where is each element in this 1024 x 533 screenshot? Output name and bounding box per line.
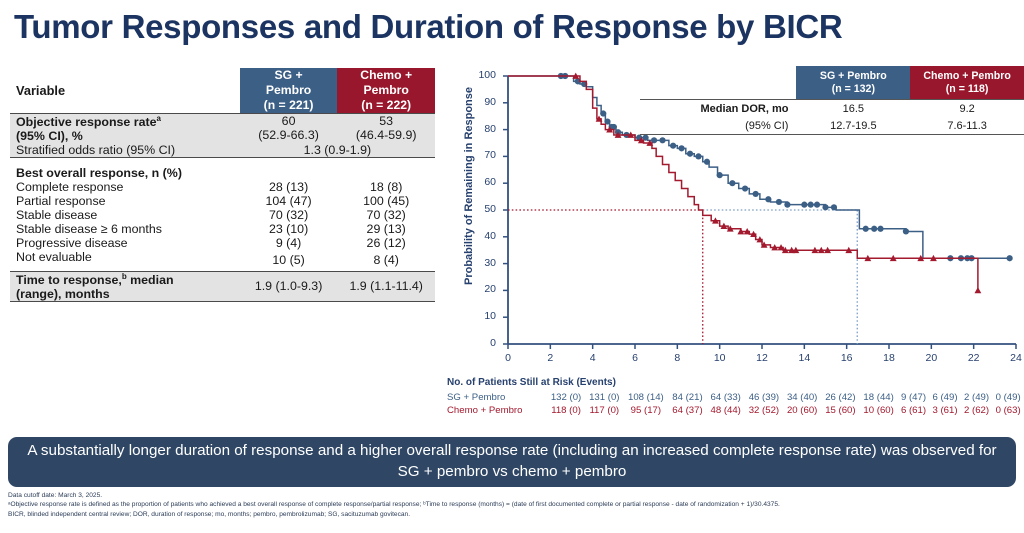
dor-ci-label: (95% CI)	[640, 117, 796, 135]
dor-header-row: SG + Pembro (n = 132) Chemo + Pembro (n …	[640, 66, 1024, 100]
row-progressive-disease-label: Progressive disease	[10, 236, 240, 250]
y-tick-label: 10	[470, 310, 496, 322]
row-orr-value-sg-pct: 60	[282, 114, 296, 128]
censor-mark-circle	[742, 185, 748, 191]
at-risk-cell: 18 (44)	[860, 391, 898, 404]
header-variable: Variable	[10, 68, 240, 113]
at-risk-grid: SG + Pembro132 (0)131 (0)108 (14)84 (21)…	[447, 391, 1024, 417]
y-tick-label: 40	[470, 230, 496, 242]
dor-header-chemo-l1: Chemo + Pembro	[912, 70, 1022, 83]
censor-mark-circle	[704, 159, 710, 165]
at-risk-cell: 0 (63)	[992, 404, 1024, 417]
y-tick-label: 100	[470, 69, 496, 81]
row-time-to-response-sg: 1.9 (1.0-9.3)	[240, 271, 338, 301]
censor-mark-circle	[659, 137, 665, 143]
at-risk-cell: 95 (17)	[623, 404, 668, 417]
at-risk-cell: 34 (40)	[783, 391, 821, 404]
footnote-line-2: ᵃObjective response rate is defined as t…	[8, 500, 1022, 509]
row-stable-disease-label: Stable disease	[10, 208, 240, 222]
row-stable-disease-6mo-sg: 23 (10)	[240, 222, 338, 236]
header-chemo-pembro: Chemo + Pembro (n = 222)	[337, 68, 435, 113]
at-risk-cell: 20 (60)	[783, 404, 821, 417]
y-tick-label: 30	[470, 257, 496, 269]
censor-mark-circle	[822, 204, 828, 210]
x-tick-label: 16	[835, 352, 859, 364]
slide-root: Tumor Responses and Duration of Response…	[0, 0, 1024, 533]
x-tick-label: 12	[750, 352, 774, 364]
dor-header-spacer	[640, 66, 796, 100]
x-tick-label: 6	[623, 352, 647, 364]
row-bor-header-a	[240, 157, 338, 180]
censor-mark-circle	[687, 151, 693, 157]
y-tick-label: 90	[470, 96, 496, 108]
dor-ci-row: (95% CI) 12.7-19.5 7.6-11.3	[640, 117, 1024, 135]
at-risk-cell: 2 (49)	[961, 391, 993, 404]
footnotes: Data cutoff date: March 3, 2025. ᵃObject…	[8, 491, 1022, 519]
at-risk-cell: 32 (52)	[745, 404, 783, 417]
at-risk-row-label: Chemo + Pembro	[447, 404, 547, 417]
censor-mark-circle	[1007, 255, 1013, 261]
censor-mark-circle	[831, 204, 837, 210]
at-risk-cell: 10 (60)	[860, 404, 898, 417]
header-chemo-line2: Pembro	[337, 83, 435, 98]
table-header-row: Variable SG + Pembro (n = 221) Chemo + P…	[10, 68, 435, 113]
y-tick-label: 60	[470, 176, 496, 188]
at-risk-cell: 132 (0)	[547, 391, 585, 404]
row-odds-ratio-value: 1.3 (0.9-1.9)	[240, 143, 435, 158]
page-title: Tumor Responses and Duration of Response…	[14, 10, 1014, 45]
table-row: Objective response ratea (95% CI), % 60 …	[10, 113, 435, 143]
table-row: Stable disease 70 (32) 70 (32)	[10, 208, 435, 222]
dor-header-sg-l2: (n = 132)	[798, 83, 908, 96]
row-stable-disease-sg: 70 (32)	[240, 208, 338, 222]
x-tick-label: 22	[962, 352, 986, 364]
header-sg-pembro: SG + Pembro (n = 221)	[240, 68, 338, 113]
dor-header-chemo: Chemo + Pembro (n = 118)	[910, 66, 1024, 100]
row-partial-response-label: Partial response	[10, 194, 240, 208]
row-ttr-label-tail: median	[127, 273, 174, 287]
dor-header-sg-l1: SG + Pembro	[798, 70, 908, 83]
at-risk-row: SG + Pembro132 (0)131 (0)108 (14)84 (21)…	[447, 391, 1024, 404]
row-time-to-response-chemo: 1.9 (1.1-11.4)	[337, 271, 435, 301]
y-tick-label: 0	[470, 337, 496, 349]
tumor-response-table: Variable SG + Pembro (n = 221) Chemo + P…	[10, 68, 435, 302]
table-row: Stable disease ≥ 6 months 23 (10) 29 (13…	[10, 222, 435, 236]
row-orr-label-text2: (95% CI), %	[16, 129, 83, 143]
footnote-marker-a: a	[157, 114, 161, 123]
censor-mark-circle	[717, 172, 723, 178]
table-row: Time to response,b median (range), month…	[10, 271, 435, 301]
table-row: Partial response 104 (47) 100 (45)	[10, 194, 435, 208]
x-tick-label: 10	[708, 352, 732, 364]
censor-mark-circle	[871, 226, 877, 232]
x-tick-label: 8	[665, 352, 689, 364]
at-risk-table: No. of Patients Still at Risk (Events) S…	[447, 377, 1024, 417]
dor-ci-sg: 12.7-19.5	[796, 117, 910, 135]
row-orr-label-text: Objective response rate	[16, 115, 157, 129]
at-risk-cell: 6 (61)	[898, 404, 930, 417]
dor-header-chemo-l2: (n = 118)	[912, 83, 1022, 96]
y-tick-label: 70	[470, 149, 496, 161]
table-row: Not evaluable 10 (5) 8 (4)	[10, 250, 435, 272]
header-sg-line3: (n = 221)	[240, 98, 338, 113]
row-not-evaluable-chemo: 8 (4)	[337, 250, 435, 272]
row-partial-response-chemo: 100 (45)	[337, 194, 435, 208]
censor-mark-circle	[729, 180, 735, 186]
row-orr-value-sg-ci: (52.9-66.3)	[258, 128, 319, 142]
censor-mark-circle	[863, 226, 869, 232]
row-complete-response-chemo: 18 (8)	[337, 180, 435, 194]
row-not-evaluable-sg: 10 (5)	[240, 250, 338, 272]
at-risk-cell: 15 (60)	[821, 404, 859, 417]
at-risk-cell: 3 (61)	[929, 404, 961, 417]
dor-median-chemo: 9.2	[910, 100, 1024, 118]
table-row: Stratified odds ratio (95% CI) 1.3 (0.9-…	[10, 143, 435, 158]
row-orr-value-sg: 60 (52.9-66.3)	[240, 113, 338, 143]
x-tick-label: 24	[1004, 352, 1024, 364]
x-tick-label: 0	[496, 352, 520, 364]
row-orr-value-chemo: 53 (46.4-59.9)	[337, 113, 435, 143]
x-tick-label: 14	[792, 352, 816, 364]
dor-median-sg: 16.5	[796, 100, 910, 118]
at-risk-cell: 108 (14)	[623, 391, 668, 404]
row-not-evaluable-label: Not evaluable	[10, 250, 240, 272]
header-sg-line1: SG +	[240, 68, 338, 83]
at-risk-cell: 64 (37)	[668, 404, 706, 417]
at-risk-row-label: SG + Pembro	[447, 391, 547, 404]
row-bor-header: Best overall response, n (%)	[10, 157, 240, 180]
row-orr-value-chemo-ci: (46.4-59.9)	[356, 128, 417, 142]
at-risk-cell: 2 (62)	[961, 404, 993, 417]
row-stable-disease-chemo: 70 (32)	[337, 208, 435, 222]
row-stable-disease-6mo-label: Stable disease ≥ 6 months	[10, 222, 240, 236]
at-risk-cell: 0 (49)	[992, 391, 1024, 404]
censor-mark-circle	[814, 202, 820, 208]
at-risk-title: No. of Patients Still at Risk (Events)	[447, 377, 1024, 388]
header-sg-line2: Pembro	[240, 83, 338, 98]
x-tick-label: 18	[877, 352, 901, 364]
at-risk-cell: 48 (44)	[707, 404, 745, 417]
at-risk-cell: 6 (49)	[929, 391, 961, 404]
row-complete-response-sg: 28 (13)	[240, 180, 338, 194]
censor-mark-circle	[695, 153, 701, 159]
row-time-to-response-label: Time to response,b median (range), month…	[10, 271, 240, 301]
censor-mark-circle	[678, 145, 684, 151]
censor-mark-circle	[753, 191, 759, 197]
censor-mark-circle	[765, 196, 771, 202]
dor-header-sg: SG + Pembro (n = 132)	[796, 66, 910, 100]
censor-mark-circle	[670, 143, 676, 149]
median-dor-table: SG + Pembro (n = 132) Chemo + Pembro (n …	[640, 66, 1024, 135]
table-row: Complete response 28 (13) 18 (8)	[10, 180, 435, 194]
x-tick-label: 20	[919, 352, 943, 364]
at-risk-cell: 9 (47)	[898, 391, 930, 404]
dor-ci-chemo: 7.6-11.3	[910, 117, 1024, 135]
row-complete-response-label: Complete response	[10, 180, 240, 194]
censor-mark-circle	[600, 110, 606, 116]
conclusion-banner: A substantially longer duration of respo…	[8, 437, 1016, 487]
censor-mark-circle	[784, 202, 790, 208]
y-tick-label: 20	[470, 283, 496, 295]
censor-mark-circle	[808, 202, 814, 208]
row-orr-value-chemo-pct: 53	[379, 114, 393, 128]
at-risk-cell: 26 (42)	[821, 391, 859, 404]
at-risk-cell: 117 (0)	[585, 404, 623, 417]
at-risk-cell: 64 (33)	[707, 391, 745, 404]
dor-median-row: Median DOR, mo 16.5 9.2	[640, 100, 1024, 118]
row-ttr-label-text2: (range), months	[16, 287, 110, 301]
row-odds-ratio-label: Stratified odds ratio (95% CI)	[10, 143, 240, 158]
x-tick-label: 2	[538, 352, 562, 364]
table-row: Best overall response, n (%)	[10, 157, 435, 180]
censor-mark-circle	[801, 202, 807, 208]
header-chemo-line3: (n = 222)	[337, 98, 435, 113]
at-risk-cell: 131 (0)	[585, 391, 623, 404]
censor-mark-circle	[877, 226, 883, 232]
at-risk-cell: 84 (21)	[668, 391, 706, 404]
footnote-line-3: BICR, blinded independent central review…	[8, 510, 1022, 519]
censor-mark-circle	[903, 228, 909, 234]
row-ttr-label-text: Time to response,	[16, 273, 122, 287]
at-risk-cell: 118 (0)	[547, 404, 585, 417]
table-row: Progressive disease 9 (4) 26 (12)	[10, 236, 435, 250]
at-risk-row: Chemo + Pembro118 (0)117 (0)95 (17)64 (3…	[447, 404, 1024, 417]
censor-mark-triangle	[975, 287, 982, 293]
dor-median-label: Median DOR, mo	[640, 100, 796, 118]
at-risk-cell: 46 (39)	[745, 391, 783, 404]
y-tick-label: 80	[470, 123, 496, 135]
footnote-line-1: Data cutoff date: March 3, 2025.	[8, 491, 1022, 500]
row-progressive-disease-sg: 9 (4)	[240, 236, 338, 250]
header-chemo-line1: Chemo +	[337, 68, 435, 83]
row-stable-disease-6mo-chemo: 29 (13)	[337, 222, 435, 236]
censor-mark-circle	[776, 199, 782, 205]
x-tick-label: 4	[581, 352, 605, 364]
row-orr-label: Objective response ratea (95% CI), %	[10, 113, 240, 143]
row-progressive-disease-chemo: 26 (12)	[337, 236, 435, 250]
y-tick-label: 50	[470, 203, 496, 215]
row-partial-response-sg: 104 (47)	[240, 194, 338, 208]
row-bor-header-b	[337, 157, 435, 180]
